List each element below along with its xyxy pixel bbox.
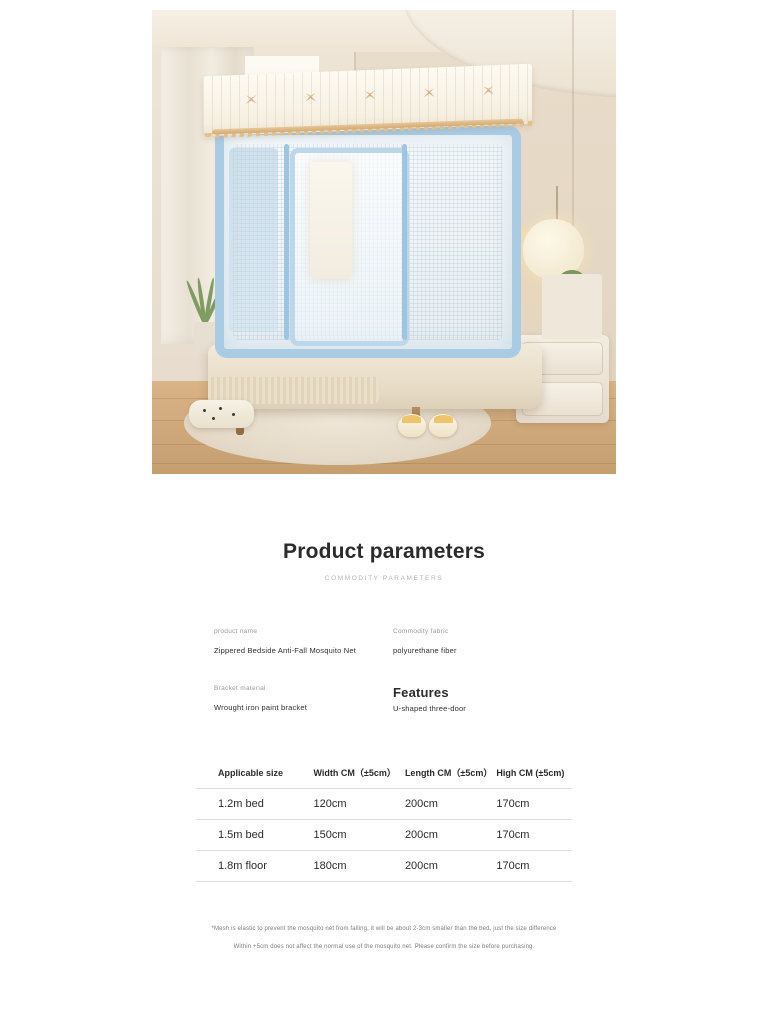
table-cell: 200cm (405, 820, 496, 851)
table-cell: 180cm (313, 851, 404, 882)
spec-grid: product name Zippered Bedside Anti-Fall … (214, 628, 554, 713)
table-header-cell: High CM (±5cm) (496, 761, 572, 789)
table-cell: 170cm (496, 851, 572, 882)
size-table: Applicable size Width CM（±5cm） Length CM… (196, 761, 572, 882)
product-parameters-section: Product parameters COMMODITY PARAMETERS … (0, 540, 768, 950)
table-cell: 200cm (405, 789, 496, 820)
spec-features: Features U-shaped three-door (393, 685, 554, 713)
page-title: Product parameters (0, 540, 768, 564)
spec-commodity-fabric: Commodity fabric polyurethane fiber (393, 628, 554, 655)
note-line: Within +5cm does not affect the normal u… (0, 944, 768, 951)
table-cell: 150cm (313, 820, 404, 851)
size-notes: *Mesh is elastic to prevent the mosquito… (0, 926, 768, 950)
note-line: *Mesh is elastic to prevent the mosquito… (0, 926, 768, 933)
table-cell: 200cm (405, 851, 496, 882)
floor-cushion (189, 400, 254, 428)
table-row: 1.8m floor 180cm 200cm 170cm (196, 851, 572, 882)
table-header-cell: Length CM（±5cm） (405, 761, 496, 789)
table-cell: 170cm (496, 789, 572, 820)
spec-label: Bracket material (214, 685, 375, 692)
spec-bracket-material: Bracket material Wrought iron paint brac… (214, 685, 375, 713)
spec-value: U-shaped three-door (393, 704, 554, 713)
spec-product-name: product name Zippered Bedside Anti-Fall … (214, 628, 375, 655)
lamp-cord (556, 186, 558, 223)
table-row: 1.2m bed 120cm 200cm 170cm (196, 789, 572, 820)
spec-label: Features (393, 685, 554, 700)
table-cell: 1.2m bed (196, 789, 313, 820)
table-cell: 1.5m bed (196, 820, 313, 851)
page-subtitle: COMMODITY PARAMETERS (0, 575, 768, 582)
spec-value: polyurethane fiber (393, 646, 554, 655)
spec-value: Zippered Bedside Anti-Fall Mosquito Net (214, 646, 375, 655)
table-header-cell: Applicable size (196, 761, 313, 789)
table-header-row: Applicable size Width CM（±5cm） Length CM… (196, 761, 572, 789)
table-header-cell: Width CM（±5cm） (313, 761, 404, 789)
nightstand-decor (542, 274, 602, 339)
table-cell: 1.8m floor (196, 851, 313, 882)
bedroom-scene (152, 10, 616, 474)
spec-value: Wrought iron paint bracket (214, 703, 375, 712)
mosquito-net (215, 126, 521, 358)
table-row: 1.5m bed 150cm 200cm 170cm (196, 820, 572, 851)
spec-label: product name (214, 628, 375, 635)
spec-label: Commodity fabric (393, 628, 554, 635)
product-hero-image (152, 10, 616, 474)
table-cell: 170cm (496, 820, 572, 851)
table-cell: 120cm (313, 789, 404, 820)
slippers (398, 414, 458, 437)
